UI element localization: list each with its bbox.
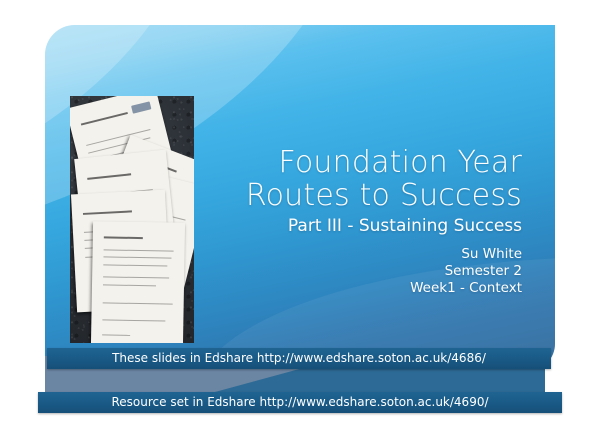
slides-link-banner[interactable]: These slides in Edshare http://www.edsha… (47, 348, 551, 369)
week-label: Week1 - Context (200, 280, 522, 297)
author-name: Su White (200, 246, 522, 263)
document-sheet (91, 221, 185, 343)
title-block: Foundation Year Routes to Success Part I… (200, 146, 522, 297)
page-subtitle: Part III - Sustaining Success (200, 214, 522, 239)
semester-label: Semester 2 (200, 263, 522, 280)
page-title-line-2: Routes to Success (200, 179, 522, 212)
handouts-photo (70, 96, 194, 343)
page-title-line-1: Foundation Year (200, 146, 522, 179)
resource-set-link-banner[interactable]: Resource set in Edshare http://www.edsha… (38, 392, 562, 413)
slide-canvas: Foundation Year Routes to Success Part I… (0, 0, 600, 424)
